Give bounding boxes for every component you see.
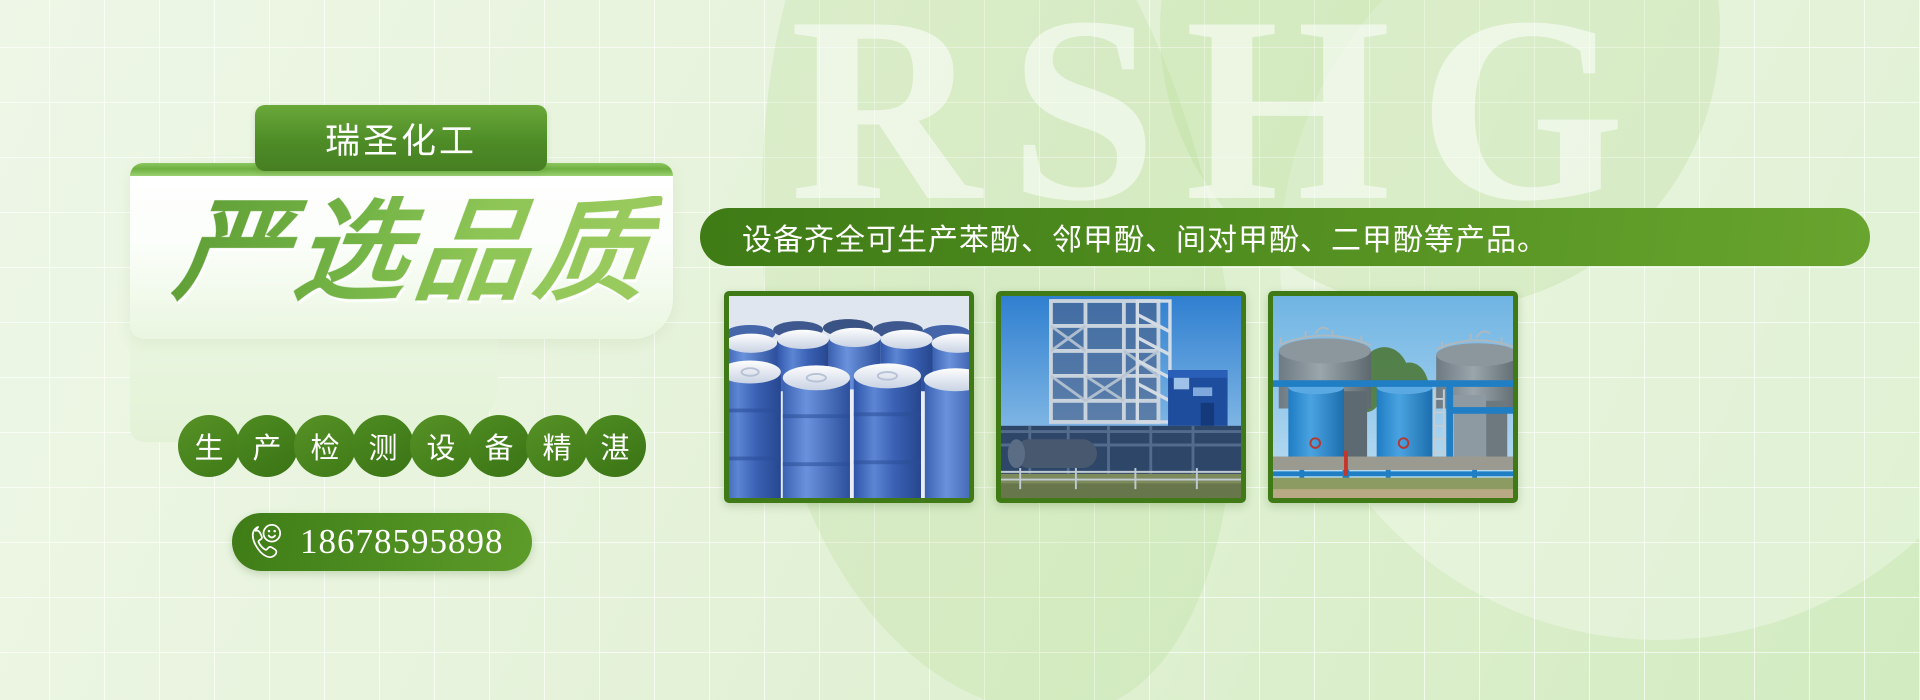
keyword-circle: 湛: [584, 415, 646, 477]
phone-smile-icon: [246, 522, 286, 562]
phone-number: 18678595898: [300, 522, 504, 562]
keyword-circle: 备: [468, 415, 530, 477]
keyword-label: 湛: [600, 425, 629, 467]
keyword-circle: 精: [526, 415, 588, 477]
keyword-circle: 检: [294, 415, 356, 477]
brand-badge-label: 瑞圣化工: [325, 113, 477, 164]
keyword-label: 检: [310, 425, 339, 467]
keyword-circle: 生: [178, 415, 240, 477]
keyword-circle: 测: [352, 415, 414, 477]
keyword-circle: 设: [410, 415, 472, 477]
promo-banner: RSHG 瑞圣化工 严选品质 生 产 检 测 设 备 精 湛: [0, 0, 1920, 700]
left-content-block: 瑞圣化工 严选品质 生 产 检 测 设 备 精 湛 18678595898: [0, 0, 720, 700]
keyword-circle-list: 生 产 检 测 设 备 精 湛: [178, 415, 642, 477]
keyword-label: 精: [542, 425, 571, 467]
storage-tanks-photo[interactable]: [1268, 291, 1518, 503]
product-description-text: 设备齐全可生产苯酚、邻甲酚、间对甲酚、二甲酚等产品。: [742, 215, 1548, 259]
keyword-label: 测: [368, 425, 397, 467]
product-photo-gallery: [724, 291, 1518, 503]
keyword-circle: 产: [236, 415, 298, 477]
keyword-label: 备: [484, 425, 513, 467]
keyword-label: 产: [252, 425, 281, 467]
keyword-label: 设: [426, 425, 455, 467]
blue-chemical-drums-photo[interactable]: [724, 291, 974, 503]
brand-badge: 瑞圣化工: [255, 105, 547, 171]
product-description-banner: 设备齐全可生产苯酚、邻甲酚、间对甲酚、二甲酚等产品。: [700, 208, 1870, 266]
contact-phone-button[interactable]: 18678595898: [232, 513, 532, 571]
chemical-plant-tower-photo[interactable]: [996, 291, 1246, 503]
keyword-label: 生: [194, 425, 223, 467]
page-title: 严选品质: [169, 196, 663, 308]
